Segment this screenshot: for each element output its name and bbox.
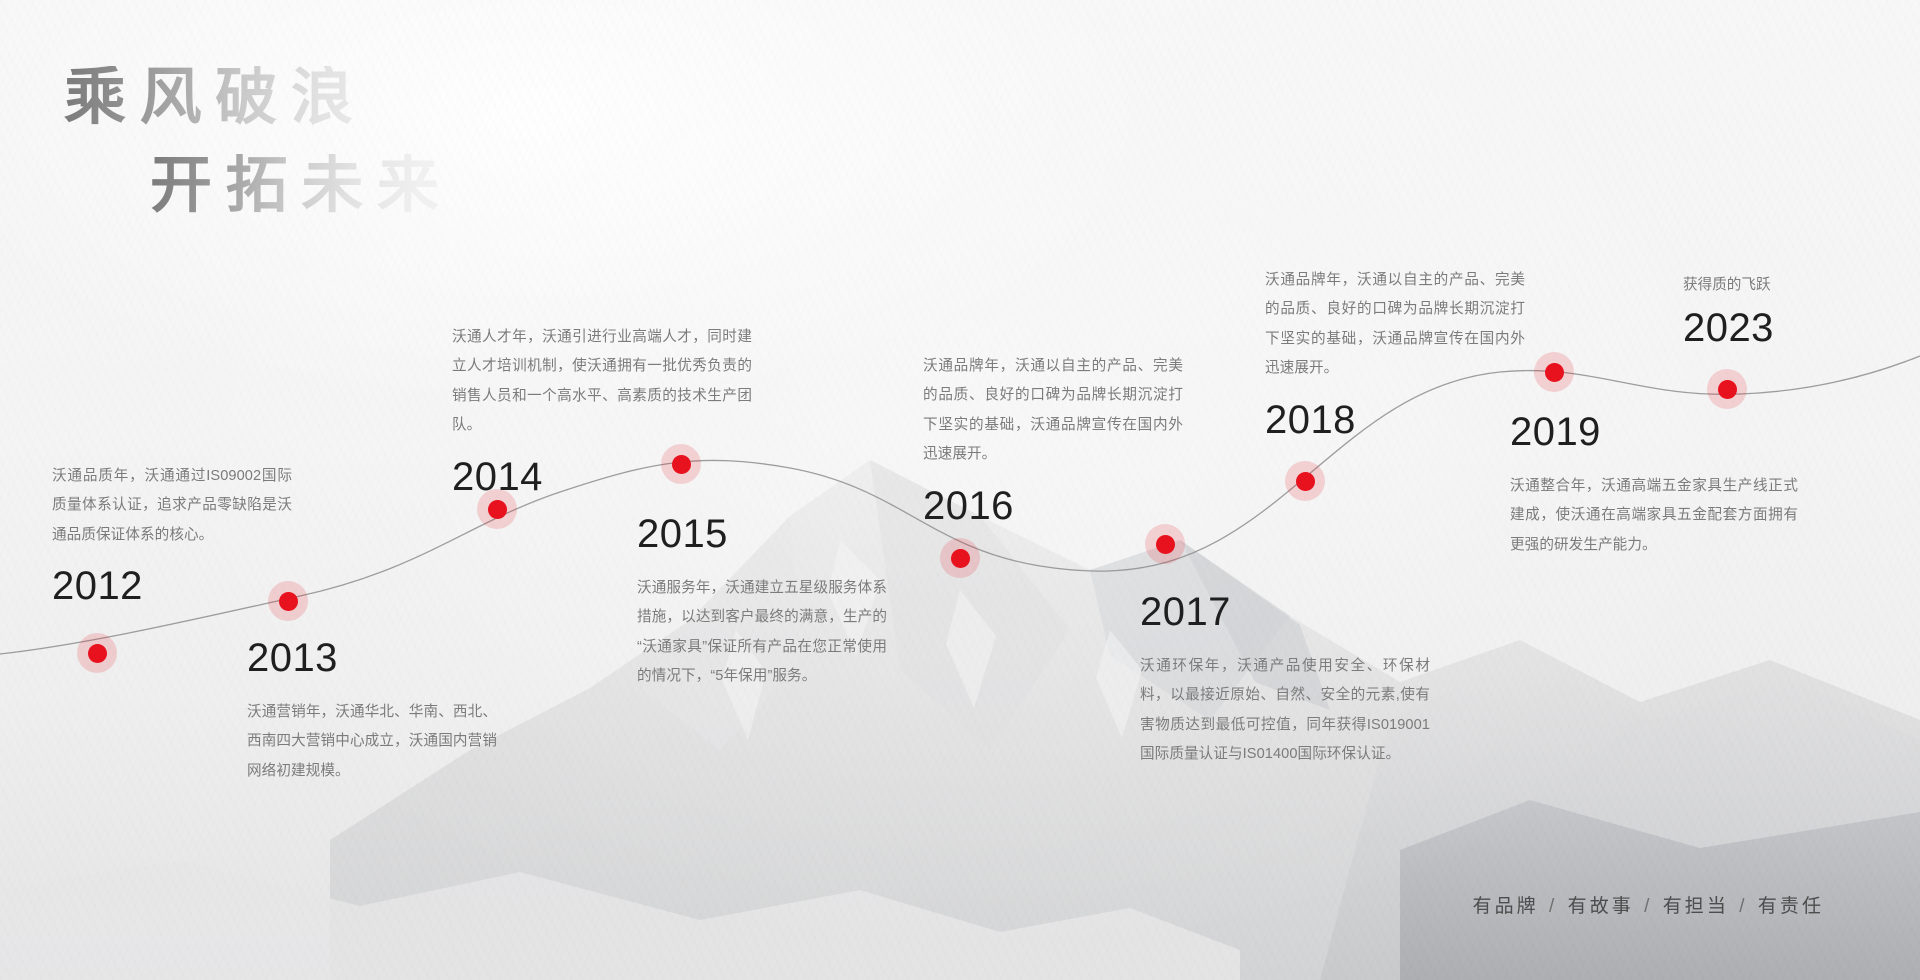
timeline-entry-2014: 沃通人才年，沃通引进行业高端人才，同时建立人才培训机制，使沃通拥有一批优秀负责的… <box>452 323 752 497</box>
entry-description: 沃通营销年，沃通华北、华南、西北、西南四大营销中心成立，沃通国内营销网络初建规模… <box>247 698 497 786</box>
entry-year: 2019 <box>1510 412 1798 452</box>
entry-year: 2015 <box>637 514 887 554</box>
slogan-item-2: 有故事 <box>1568 896 1634 917</box>
timeline-entry-2018: 沃通品牌年，沃通以自主的产品、完美的品质、良好的口碑为品牌长期沉淀打下坚实的基础… <box>1265 266 1525 440</box>
entry-year: 2016 <box>923 486 1183 526</box>
timeline-entry-2023: 获得质的飞跃 2023 <box>1683 272 1903 348</box>
slogan-item-1: 有品牌 <box>1473 896 1539 917</box>
entry-description: 获得质的飞跃 <box>1683 272 1903 298</box>
entry-description: 沃通品牌年，沃通以自主的产品、完美的品质、良好的口碑为品牌长期沉淀打下坚实的基础… <box>1265 266 1525 384</box>
entry-description: 沃通品质年，沃通通过IS09002国际质量体系认证，追求产品零缺陷是沃通品质保证… <box>52 462 292 550</box>
node-dot <box>951 549 970 568</box>
infographic-canvas: 乘风破浪 开拓未来 沃通品质年，沃通通过IS09002国际质量体系认证，追求产品… <box>0 0 1920 980</box>
slogan-separator: / <box>1547 896 1559 917</box>
node-dot <box>488 500 507 519</box>
timeline-entry-2016: 沃通品牌年，沃通以自主的产品、完美的品质、良好的口碑为品牌长期沉淀打下坚实的基础… <box>923 352 1183 526</box>
node-dot <box>1156 535 1175 554</box>
node-dot <box>88 644 107 663</box>
entry-description: 沃通整合年，沃通高端五金家具生产线正式建成，使沃通在高端家具五金配套方面拥有更强… <box>1510 472 1798 560</box>
slogan-separator: / <box>1642 896 1654 917</box>
node-dot <box>1296 472 1315 491</box>
entry-year: 2018 <box>1265 400 1525 440</box>
page-title: 乘风破浪 开拓未来 <box>64 66 453 219</box>
timeline-entry-2017: 2017 沃通环保年，沃通产品使用安全、环保材料，以最接近原始、自然、安全的元素… <box>1140 592 1430 770</box>
entry-year: 2023 <box>1683 308 1903 348</box>
entry-description: 沃通品牌年，沃通以自主的产品、完美的品质、良好的口碑为品牌长期沉淀打下坚实的基础… <box>923 352 1183 470</box>
timeline-entry-2019: 2019 沃通整合年，沃通高端五金家具生产线正式建成，使沃通在高端家具五金配套方… <box>1510 412 1798 560</box>
footer-slogan: 有品牌 / 有故事 / 有担当 / 有责任 <box>1473 891 1824 918</box>
entry-year: 2013 <box>247 638 497 678</box>
entry-year: 2012 <box>52 566 292 606</box>
entry-description: 沃通人才年，沃通引进行业高端人才，同时建立人才培训机制，使沃通拥有一批优秀负责的… <box>452 323 752 441</box>
headline-line-2: 开拓未来 <box>150 154 453 220</box>
node-dot <box>1718 380 1737 399</box>
timeline-entry-2015: 2015 沃通服务年，沃通建立五星级服务体系措施，以达到客户最终的满意，生产的“… <box>637 514 887 692</box>
entry-description: 沃通服务年，沃通建立五星级服务体系措施，以达到客户最终的满意，生产的“沃通家具”… <box>637 574 887 692</box>
timeline-entry-2013: 2013 沃通营销年，沃通华北、华南、西北、西南四大营销中心成立，沃通国内营销网… <box>247 638 497 786</box>
entry-year: 2017 <box>1140 592 1430 632</box>
slogan-separator: / <box>1737 896 1749 917</box>
entry-year: 2014 <box>452 457 752 497</box>
timeline-entry-2012: 沃通品质年，沃通通过IS09002国际质量体系认证，追求产品零缺陷是沃通品质保证… <box>52 462 292 606</box>
node-dot <box>1545 363 1564 382</box>
entry-description: 沃通环保年，沃通产品使用安全、环保材料，以最接近原始、自然、安全的元素,使有害物… <box>1140 652 1430 770</box>
slogan-item-4: 有责任 <box>1758 896 1824 917</box>
headline-line-1: 乘风破浪 <box>64 66 453 132</box>
slogan-item-3: 有担当 <box>1663 896 1729 917</box>
